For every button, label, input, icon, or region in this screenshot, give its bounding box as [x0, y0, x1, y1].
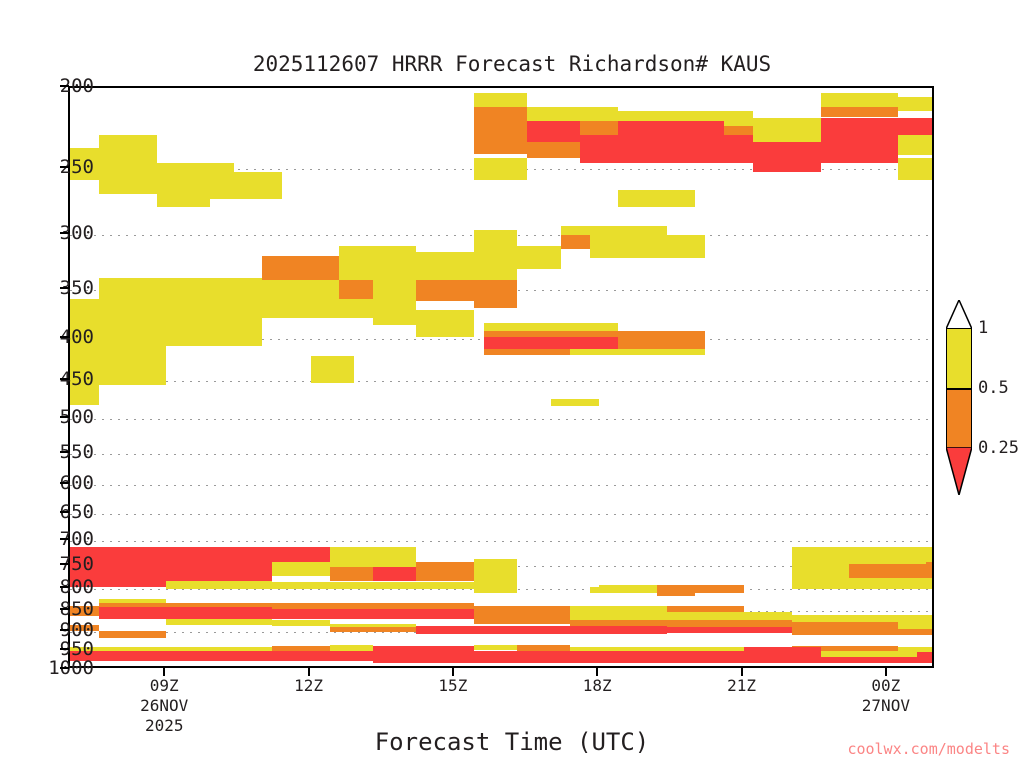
heatmap-cell — [373, 301, 416, 325]
heatmap-cell — [628, 235, 705, 258]
heatmap-cell — [753, 118, 820, 142]
heatmap-cell — [166, 607, 272, 619]
heatmap-cell — [590, 587, 657, 593]
y-axis-tick-mark — [60, 563, 69, 565]
x-axis-tick-label: 12Z — [294, 676, 323, 696]
heatmap-cell — [657, 592, 695, 596]
gridline — [70, 541, 932, 542]
heatmap-cell — [166, 619, 272, 625]
heatmap-cell — [262, 256, 339, 280]
heatmap-cell — [926, 562, 934, 578]
heatmap-cell — [474, 559, 517, 587]
heatmap-cell — [416, 626, 666, 634]
heatmap-cell — [311, 356, 354, 383]
y-axis-tick-mark — [60, 166, 69, 168]
colorbar-segment — [947, 388, 971, 447]
heatmap-cell — [474, 107, 527, 154]
heatmap-cell — [99, 607, 166, 619]
heatmap-cell — [474, 93, 527, 107]
colorbar: 10.50.25 — [946, 300, 1024, 500]
heatmap-cell — [166, 581, 272, 589]
heatmap-cell — [339, 280, 373, 299]
heatmap-cell — [517, 246, 560, 269]
colorbar-segment — [947, 329, 971, 388]
heatmap-cell — [416, 562, 474, 581]
y-axis-tick-mark — [60, 232, 69, 234]
heatmap-cell — [330, 645, 373, 651]
heatmap-cell — [527, 142, 580, 159]
y-axis-tick-mark — [60, 378, 69, 380]
heatmap-cell — [484, 337, 619, 350]
x-axis-tick-mark — [885, 668, 887, 676]
heatmap-cell — [70, 651, 373, 660]
heatmap-cell — [474, 587, 517, 593]
heatmap-cell — [272, 562, 330, 576]
heatmap-cell — [898, 135, 935, 155]
gridline — [70, 485, 932, 486]
heatmap-cell — [416, 310, 474, 336]
chart-root: 2025112607 HRRR Forecast Richardson# KAU… — [0, 0, 1024, 768]
heatmap-cell — [527, 121, 580, 142]
heatmap-cell — [272, 620, 330, 625]
heatmap-cell — [157, 194, 210, 207]
heatmap-cell — [484, 349, 571, 354]
gridline — [70, 419, 932, 420]
heatmap-cell — [416, 280, 474, 301]
heatmap-cell — [474, 645, 517, 650]
y-axis-tick-mark — [60, 629, 69, 631]
heatmap-cell — [580, 121, 618, 136]
page-title: 2025112607 HRRR Forecast Richardson# KAU… — [0, 52, 1024, 76]
y-axis-tick-mark — [60, 586, 69, 588]
heatmap-cell — [753, 142, 820, 172]
y-axis-tick-label: 1000 — [48, 657, 94, 679]
colorbar-min-arrow-icon — [946, 447, 972, 495]
heatmap-cell — [262, 278, 339, 318]
colorbar-tick-label: 0.5 — [978, 378, 1009, 398]
heatmap-cell — [792, 622, 898, 629]
watermark: coolwx.com/modelts — [847, 740, 1010, 758]
colorbar-body — [946, 328, 972, 448]
y-axis-tick-mark — [60, 287, 69, 289]
heatmap-cell — [821, 93, 898, 107]
heatmap-cell — [821, 118, 934, 136]
x-axis-tick-mark — [741, 668, 743, 676]
x-axis-tick-mark — [163, 668, 165, 676]
colorbar-tick-label: 1 — [978, 318, 988, 338]
heatmap-cell — [898, 97, 935, 111]
x-axis-tick-label: 18Z — [583, 676, 612, 696]
y-axis-tick-mark — [60, 451, 69, 453]
x-axis-tick-label: 21Z — [727, 676, 756, 696]
heatmap-cell — [898, 158, 935, 180]
y-axis-tick-mark — [60, 648, 69, 650]
colorbar-tick-label: 0.25 — [978, 438, 1019, 458]
heatmap-cell — [272, 582, 474, 589]
heatmap-cell — [667, 627, 792, 633]
heatmap-cell — [272, 547, 330, 562]
heatmap-cell — [99, 631, 166, 638]
x-axis-tick-label: 00Z27NOV — [862, 676, 910, 716]
heatmap-cell — [792, 629, 934, 635]
heatmap-cell — [474, 606, 570, 624]
gridline — [70, 381, 932, 382]
y-axis-tick-mark — [60, 511, 69, 513]
heatmap-cell — [527, 107, 580, 120]
heatmap-cell — [618, 121, 724, 136]
x-axis-tick-mark — [308, 668, 310, 676]
heatmap-cell — [474, 280, 517, 309]
heatmap-cell — [330, 567, 373, 581]
heatmap-cell — [744, 647, 821, 663]
heatmap-cell — [330, 547, 417, 567]
heatmap-cell — [580, 107, 618, 120]
heatmap-cell — [373, 567, 416, 581]
heatmap-cell — [618, 190, 695, 207]
colorbar-divider — [947, 388, 971, 390]
x-axis-tick-label: 09Z26NOV2025 — [140, 676, 188, 736]
heatmap-cell — [99, 135, 157, 193]
gridline — [70, 514, 932, 515]
colorbar-max-arrow-icon — [946, 300, 972, 329]
heatmap-cell — [416, 252, 474, 280]
y-axis-tick-mark — [60, 538, 69, 540]
heatmap-cell — [474, 158, 527, 180]
y-axis-tick-mark — [60, 482, 69, 484]
heatmap-cell — [821, 651, 917, 657]
heatmap-cell — [99, 278, 166, 385]
heatmap-cell — [551, 399, 599, 407]
y-axis-tick-mark — [60, 608, 69, 610]
x-axis-tick-label: 15Z — [438, 676, 467, 696]
plot-area — [68, 86, 934, 668]
y-axis-tick-mark — [60, 85, 69, 87]
heatmap-cell — [849, 564, 926, 578]
heatmap-cell — [570, 349, 705, 354]
gridline — [70, 454, 932, 455]
y-axis-tick-mark — [60, 667, 69, 669]
heatmap-cell — [474, 230, 517, 280]
heatmap-cell — [821, 107, 898, 117]
heatmap-cell — [484, 323, 619, 331]
x-axis-tick-mark — [452, 668, 454, 676]
heatmap-cell — [580, 135, 898, 162]
heatmap-cell — [166, 278, 262, 346]
heatmap-cells — [70, 88, 932, 666]
heatmap-cell — [373, 651, 743, 663]
heatmap-cell — [272, 609, 474, 619]
x-axis-tick-mark — [596, 668, 598, 676]
y-axis-tick-mark — [60, 416, 69, 418]
y-axis-tick-mark — [60, 336, 69, 338]
heatmap-cell — [210, 172, 282, 200]
